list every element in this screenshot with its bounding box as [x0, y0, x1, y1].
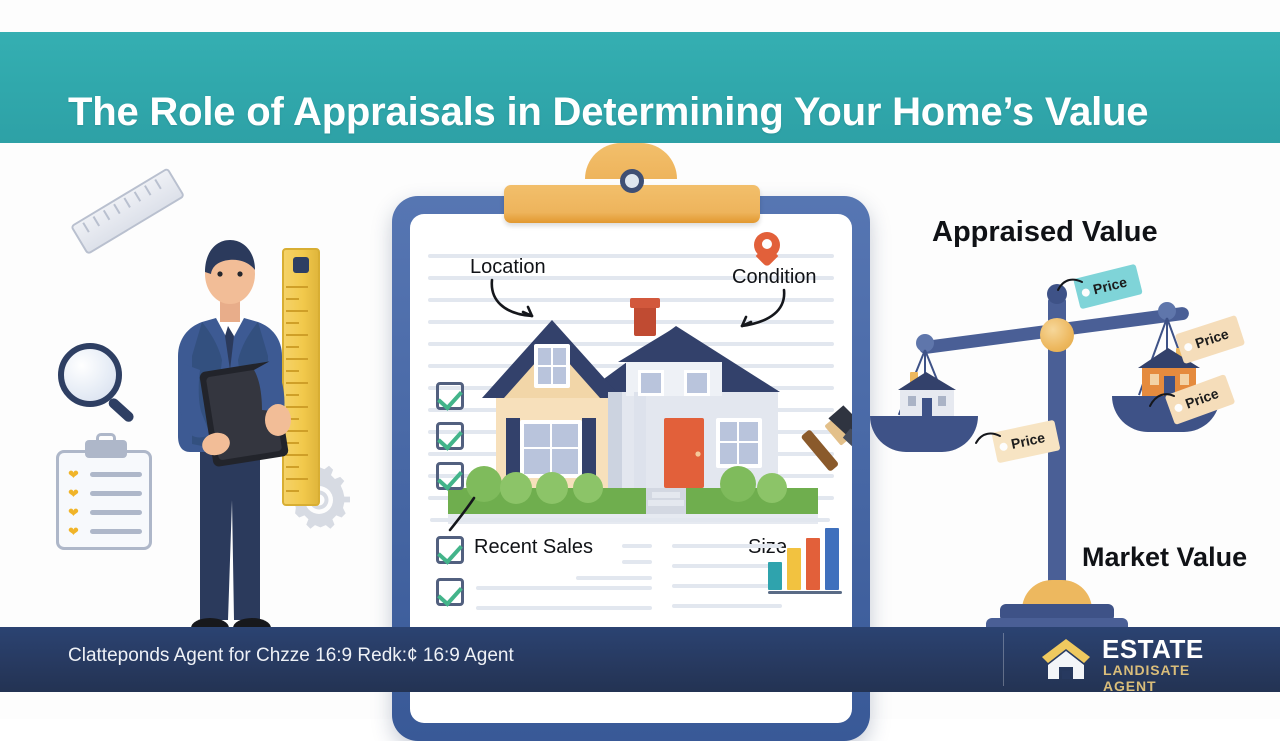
appraiser-panel: ❤ ❤ ❤ ❤ — [30, 218, 380, 658]
hammer-icon — [786, 395, 852, 491]
check-box-icon — [436, 422, 464, 450]
logo-subtitle: LANDISATE AGENT — [1103, 662, 1240, 694]
header-banner: The Role of Appraisals in Determining Yo… — [0, 32, 1280, 143]
price-tag: Price — [1175, 315, 1246, 364]
footer-divider — [1003, 633, 1004, 686]
check-box-icon — [436, 536, 464, 564]
market-value-label: Market Value — [1082, 542, 1247, 573]
label-condition: Condition — [732, 266, 817, 289]
bar-chart-icon — [768, 532, 842, 594]
footer-caption: Clatteponds Agent for Chzze 16:9 Redk:¢ … — [68, 645, 514, 667]
condition-arrow-icon — [736, 288, 792, 332]
checklist-clipboard-icon: ❤ ❤ ❤ ❤ — [56, 450, 152, 550]
appraised-value-label: Appraised Value — [932, 216, 1158, 249]
location-arrow-icon — [488, 278, 544, 322]
page-title: The Role of Appraisals in Determining Yo… — [68, 90, 1148, 135]
check-box-icon — [436, 382, 464, 410]
scale-pivot — [1040, 318, 1074, 352]
clipboard-clip-ring — [620, 169, 644, 193]
tag-string-icon — [974, 430, 1004, 448]
recent-sales-arrow-icon — [444, 496, 480, 536]
tag-string-icon — [1056, 276, 1086, 294]
brand-logo: ESTATE LANDISATE AGENT — [1040, 634, 1240, 686]
magnifier-icon — [58, 343, 136, 421]
infographic-canvas: The Role of Appraisals in Determining Yo… — [0, 0, 1280, 719]
check-box-icon — [436, 462, 464, 490]
logo-title: ESTATE — [1102, 634, 1204, 665]
tag-string-icon — [1148, 390, 1178, 410]
scale-panel: Appraised Value Market Value — [890, 198, 1250, 658]
illustration-area: ❤ ❤ ❤ ❤ — [0, 143, 1280, 627]
location-pin-icon — [754, 232, 780, 266]
label-location: Location — [470, 256, 546, 279]
label-recent-sales: Recent Sales — [474, 536, 593, 559]
scale-left-pan — [870, 416, 978, 452]
house-logo-icon — [1040, 637, 1092, 681]
house-grey-icon — [892, 362, 962, 418]
check-box-icon — [436, 578, 464, 606]
appraiser-person-icon — [160, 230, 300, 655]
